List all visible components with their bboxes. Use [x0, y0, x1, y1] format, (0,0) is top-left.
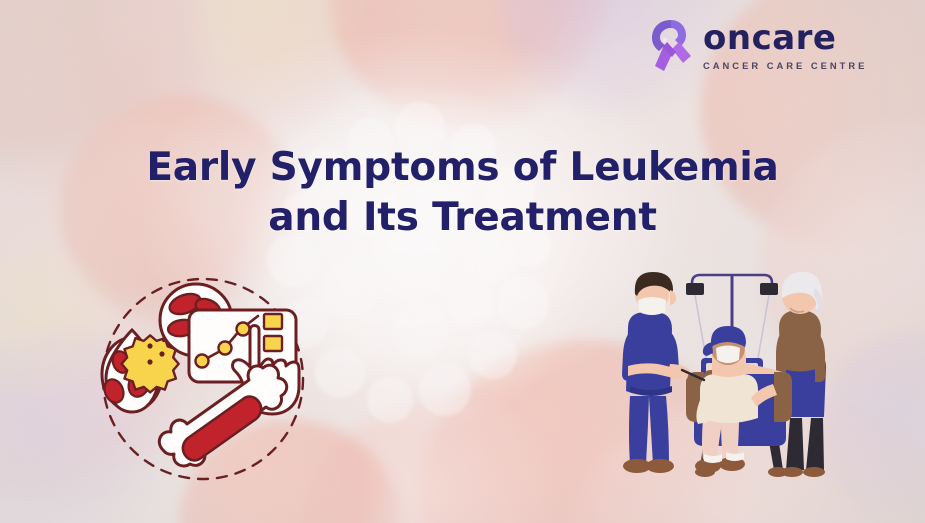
blog-banner: oncare CANCER CARE CENTRE Early Symptoms… [0, 0, 925, 523]
logo-tagline: CANCER CARE CENTRE [703, 61, 867, 70]
logo-wordmark: oncare [703, 21, 867, 55]
leukemia-diagnostics-illustration [92, 268, 314, 490]
doctor-figure [622, 272, 704, 473]
oncare-logo[interactable]: oncare CANCER CARE CENTRE [648, 18, 867, 74]
awareness-ribbon-icon [648, 18, 694, 74]
patient-child-figure [695, 326, 777, 473]
chemotherapy-treatment-illustration [608, 258, 856, 490]
